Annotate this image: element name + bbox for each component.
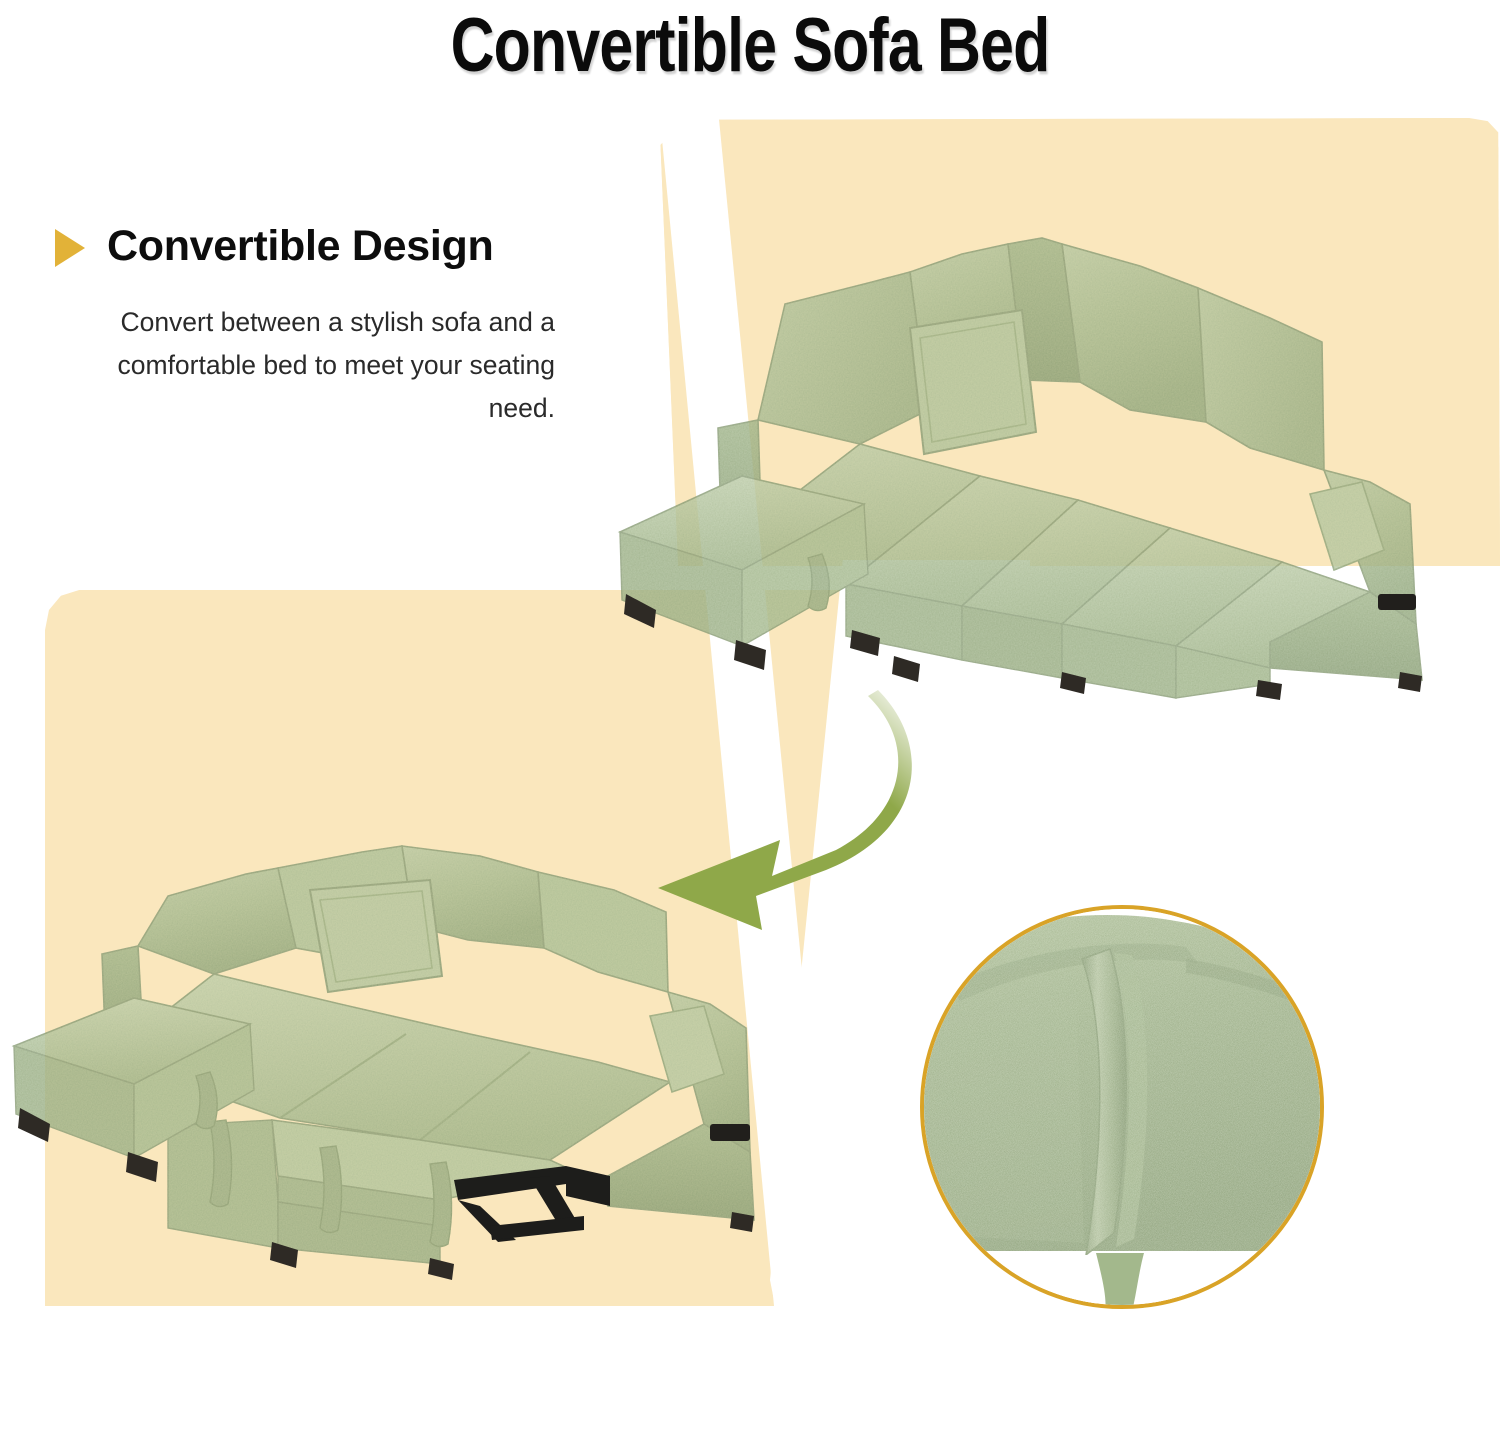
fabric-detail-circle [920,905,1324,1309]
feature-title: Convertible Design [107,222,493,271]
feature-block: Convertible Design Convert between a sty… [55,222,635,430]
bed-mode-image [10,828,850,1308]
triangle-right-icon [55,229,85,267]
bed-frame-mechanism [454,1166,610,1242]
sofa-mode-image [610,232,1490,702]
product-infographic: Convertible Sofa Bed Convertible Design … [0,0,1500,1444]
feature-description: Convert between a stylish sofa and a com… [55,301,555,430]
feature-heading-row: Convertible Design [55,222,635,271]
page-title: Convertible Sofa Bed [150,2,1350,89]
bed-mode-svg [10,828,850,1308]
fabric-detail-svg [920,905,1324,1309]
arm-handle-recess-bed [710,1124,750,1141]
arm-handle-recess [1378,594,1416,610]
sofa-mode-svg [610,232,1490,702]
